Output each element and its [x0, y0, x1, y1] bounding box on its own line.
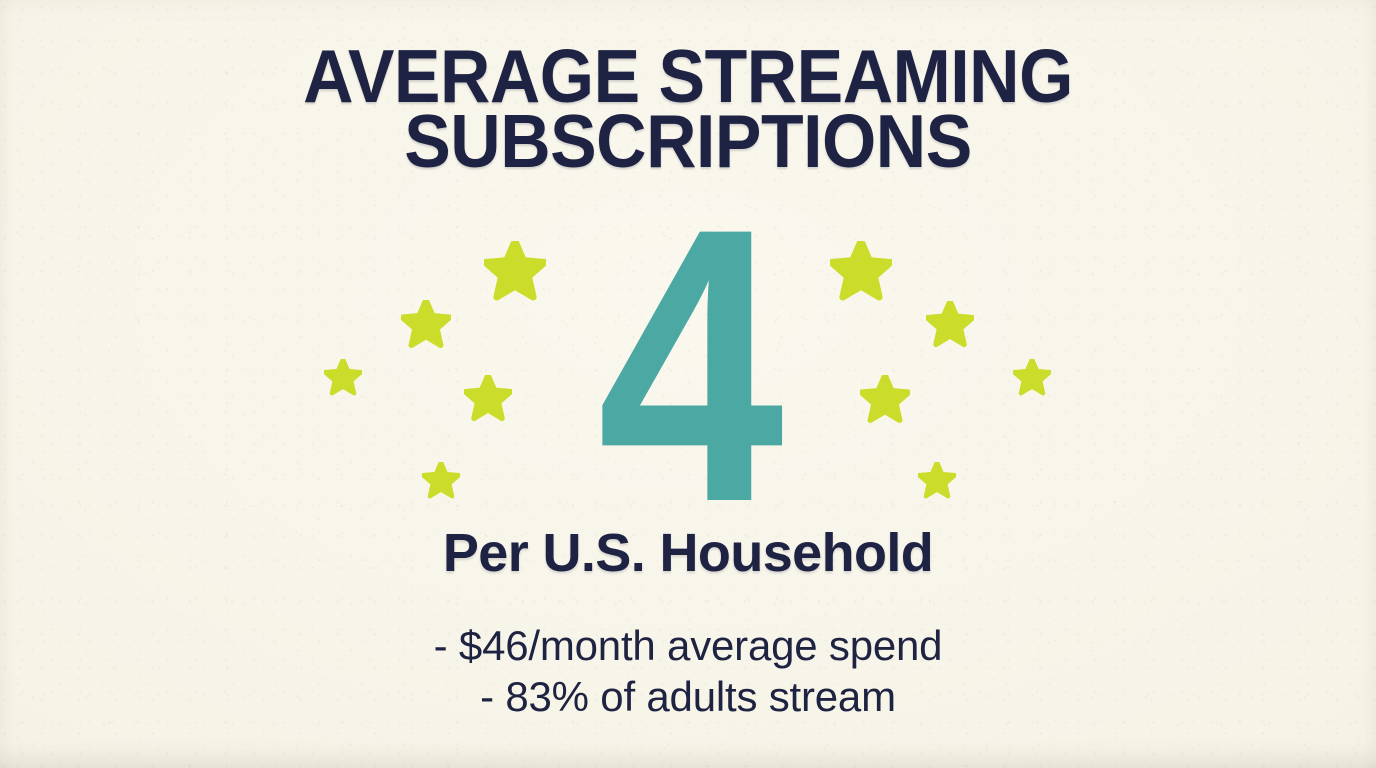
hero-statistic: 4: [0, 200, 1376, 520]
star-right-medium-lower-icon: [860, 375, 910, 425]
star-left-medium-lower-icon: [464, 375, 512, 423]
subtitle: Per U.S. Household: [0, 524, 1376, 582]
bullet-item-1: - $46/month average spend: [0, 620, 1376, 671]
star-left-large-icon: [484, 241, 546, 303]
bullet-list: - $46/month average spend - 83% of adult…: [0, 620, 1376, 722]
star-right-bottom-icon: [918, 462, 956, 500]
star-right-medium-upper-icon: [926, 301, 974, 349]
star-right-small-icon: [1013, 359, 1051, 397]
star-left-bottom-icon: [422, 462, 460, 500]
bullet-item-2: - 83% of adults stream: [0, 671, 1376, 722]
star-right-large-icon: [830, 241, 892, 303]
star-left-medium-upper-icon: [401, 300, 451, 350]
infographic-slide: AVERAGE STREAMING SUBSCRIPTIONS 4 Per U.…: [0, 0, 1376, 768]
big-number-value: 4: [96, 200, 1279, 530]
star-left-small-icon: [324, 359, 362, 397]
